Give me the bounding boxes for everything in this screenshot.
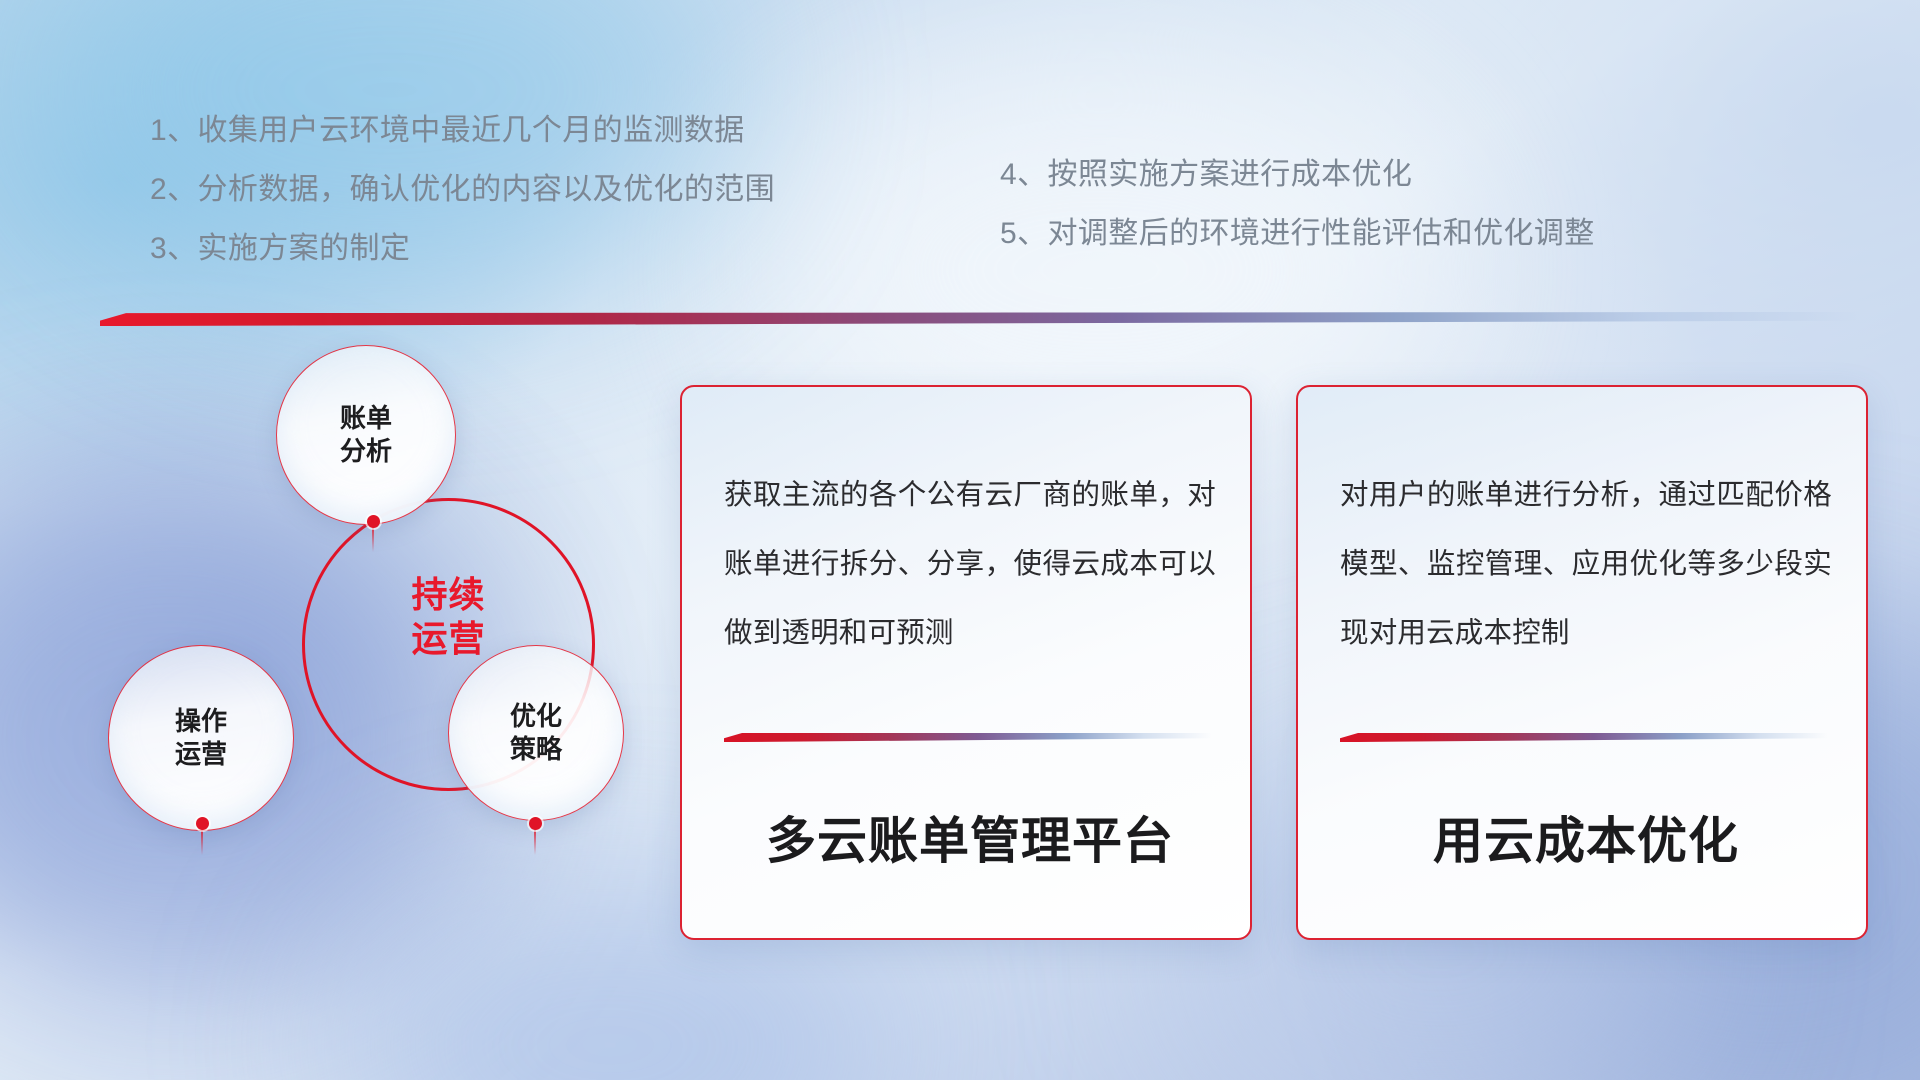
cycle-node-tail	[201, 829, 203, 855]
cycle-diagram: 持续 运营 账单 分析 操作 运营 优化 策略	[108, 345, 668, 945]
cycle-node-dot-right	[529, 817, 542, 830]
bubble-label-line-1: 账单	[340, 402, 392, 435]
card-title: 用云成本优化	[1340, 801, 1832, 873]
bubble-label-line-1: 优化	[510, 700, 562, 733]
steps-column-right: 4、按照实施方案进行成本优化 5、对调整后的环境进行性能评估和优化调整	[1000, 160, 1595, 278]
divider-line	[100, 312, 1860, 326]
cycle-node-dot-top	[367, 515, 380, 528]
step-item-5: 5、对调整后的环境进行性能评估和优化调整	[1000, 219, 1595, 249]
slide-canvas: 1、收集用户云环境中最近几个月的监测数据 2、分析数据，确认优化的内容以及优化的…	[0, 0, 1920, 1080]
cycle-center-line-1: 持续	[302, 573, 595, 617]
bubble-label-line-2: 分析	[340, 435, 392, 468]
step-item-2: 2、分析数据，确认优化的内容以及优化的范围	[150, 175, 775, 205]
cycle-bubble-optimization-strategy[interactable]: 优化 策略	[448, 645, 624, 821]
section-divider	[100, 312, 1860, 326]
bubble-label-line-2: 运营	[175, 738, 227, 771]
bubble-label-line-1: 操作	[175, 705, 227, 738]
card-body-text: 对用户的账单进行分析，通过匹配价格模型、监控管理、应用优化等多少段实现对用云成本…	[1340, 461, 1832, 668]
step-item-4: 4、按照实施方案进行成本优化	[1000, 160, 1595, 190]
card-accent-rule	[724, 733, 1212, 742]
cycle-node-tail	[534, 829, 536, 855]
info-card-cloud-cost-optimization[interactable]: 对用户的账单进行分析，通过匹配价格模型、监控管理、应用优化等多少段实现对用云成本…	[1296, 385, 1868, 940]
card-body-text: 获取主流的各个公有云厂商的账单，对账单进行拆分、分享，使得云成本可以做到透明和可…	[724, 461, 1216, 668]
bubble-label-line-2: 策略	[510, 733, 562, 766]
cycle-node-dot-left	[196, 817, 209, 830]
step-item-3: 3、实施方案的制定	[150, 234, 775, 264]
cycle-node-tail	[372, 526, 374, 552]
steps-section: 1、收集用户云环境中最近几个月的监测数据 2、分析数据，确认优化的内容以及优化的…	[0, 0, 1920, 300]
steps-column-left: 1、收集用户云环境中最近几个月的监测数据 2、分析数据，确认优化的内容以及优化的…	[150, 116, 775, 293]
step-item-1: 1、收集用户云环境中最近几个月的监测数据	[150, 116, 775, 146]
cycle-bubble-operations[interactable]: 操作 运营	[108, 645, 294, 831]
info-card-multicloud-billing[interactable]: 获取主流的各个公有云厂商的账单，对账单进行拆分、分享，使得云成本可以做到透明和可…	[680, 385, 1252, 940]
cycle-bubble-billing-analysis[interactable]: 账单 分析	[276, 345, 456, 525]
card-accent-rule	[1340, 733, 1828, 742]
card-title: 多云账单管理平台	[724, 801, 1216, 873]
